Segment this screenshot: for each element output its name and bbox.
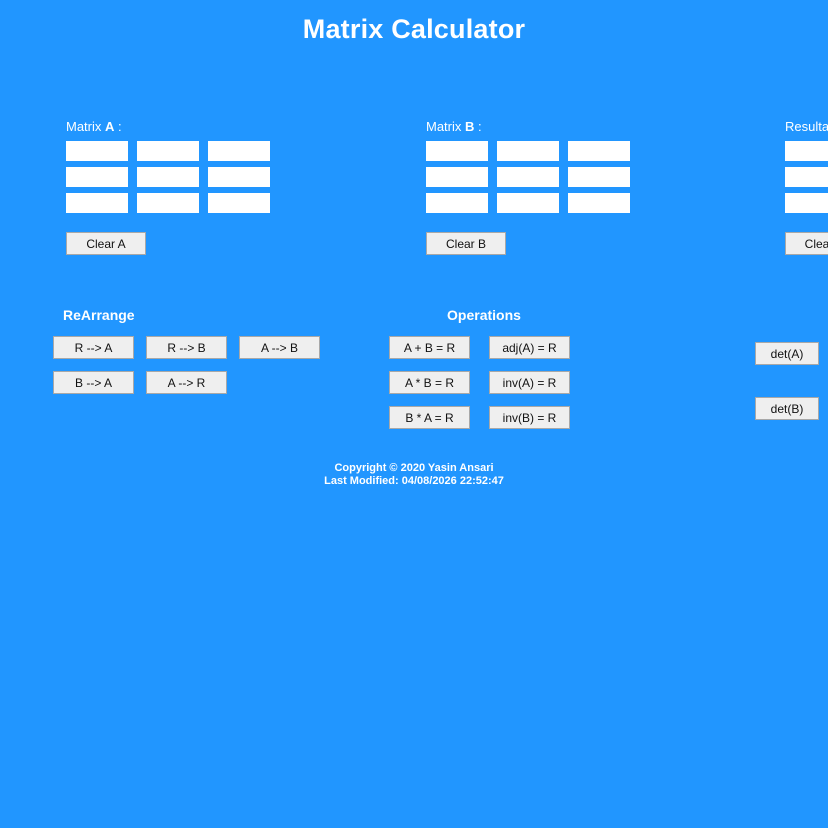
matrix-b-row	[426, 141, 630, 161]
matrix-a-row	[66, 193, 270, 213]
matrix-a-grid	[66, 141, 270, 213]
matrix-r-cell-1-0[interactable]	[785, 167, 828, 187]
matrix-b-label-suffix: :	[474, 119, 481, 134]
rearrange-section: ReArrange R --> A R --> B A --> B B --> …	[53, 307, 320, 406]
determinant-row-2: det(B)	[755, 397, 828, 420]
clear-r-button[interactable]: Clear R	[785, 232, 828, 255]
matrix-a-row	[66, 141, 270, 161]
matrix-a-cell-0-2[interactable]	[208, 141, 270, 161]
matrix-a-row	[66, 167, 270, 187]
matrix-a-cell-0-0[interactable]	[66, 141, 128, 161]
det-b-button[interactable]: det(B)	[755, 397, 819, 420]
rearrange-row-2: B --> A A --> R	[53, 371, 320, 394]
page-title: Matrix Calculator	[0, 14, 828, 45]
matrix-r-label-prefix: Resultant	[785, 119, 828, 134]
op-inv-b-button[interactable]: inv(B) = R	[489, 406, 570, 429]
matrix-b-cell-2-1[interactable]	[497, 193, 559, 213]
operations-heading: Operations	[389, 307, 579, 323]
matrix-a-label: Matrix A :	[66, 118, 270, 136]
clear-b-button[interactable]: Clear B	[426, 232, 506, 255]
matrix-a-cell-2-2[interactable]	[208, 193, 270, 213]
matrix-b-panel: Matrix B : Clear B	[426, 118, 630, 255]
matrix-a-label-letter: A	[105, 119, 114, 134]
matrix-r-cell-0-0[interactable]	[785, 141, 828, 161]
op-a-times-b-button[interactable]: A * B = R	[389, 371, 470, 394]
op-adj-a-button[interactable]: adj(A) = R	[489, 336, 570, 359]
footer-last-modified: Last Modified: 04/08/2026 22:52:47	[0, 475, 828, 488]
op-b-times-a-button[interactable]: B * A = R	[389, 406, 470, 429]
matrix-b-row	[426, 167, 630, 187]
matrix-b-cell-1-1[interactable]	[497, 167, 559, 187]
matrix-r-label: Resultant R :	[785, 118, 828, 136]
rearrange-r-to-b-button[interactable]: R --> B	[146, 336, 227, 359]
matrix-a-cell-2-0[interactable]	[66, 193, 128, 213]
matrix-b-cell-0-2[interactable]	[568, 141, 630, 161]
operations-row-3: B * A = R inv(B) = R	[389, 406, 579, 429]
rearrange-a-to-r-button[interactable]: A --> R	[146, 371, 227, 394]
rearrange-a-to-b-button[interactable]: A --> B	[239, 336, 320, 359]
matrix-r-cell-2-0[interactable]	[785, 193, 828, 213]
matrix-a-label-suffix: :	[114, 119, 121, 134]
matrix-a-cell-0-1[interactable]	[137, 141, 199, 161]
matrix-b-label-letter: B	[465, 119, 474, 134]
matrix-b-cell-2-2[interactable]	[568, 193, 630, 213]
clear-a-button[interactable]: Clear A	[66, 232, 146, 255]
matrix-b-grid	[426, 141, 630, 213]
matrix-b-label-prefix: Matrix	[426, 119, 465, 134]
matrix-b-cell-2-0[interactable]	[426, 193, 488, 213]
matrix-a-cell-1-2[interactable]	[208, 167, 270, 187]
matrix-r-row	[785, 193, 828, 213]
matrix-b-cell-0-1[interactable]	[497, 141, 559, 161]
matrix-a-panel: Matrix A : Clear A	[66, 118, 270, 255]
matrix-b-cell-1-2[interactable]	[568, 167, 630, 187]
determinant-section: det(A) det(B)	[755, 342, 828, 452]
matrix-a-cell-1-1[interactable]	[137, 167, 199, 187]
operations-row-2: A * B = R inv(A) = R	[389, 371, 579, 394]
matrix-b-cell-1-0[interactable]	[426, 167, 488, 187]
matrix-a-cell-2-1[interactable]	[137, 193, 199, 213]
rearrange-r-to-a-button[interactable]: R --> A	[53, 336, 134, 359]
rearrange-row-1: R --> A R --> B A --> B	[53, 336, 320, 359]
matrix-r-panel: Resultant R : Clear R	[785, 118, 828, 255]
matrix-r-row	[785, 167, 828, 187]
matrix-r-row	[785, 141, 828, 161]
rearrange-heading: ReArrange	[63, 307, 320, 323]
operations-section: Operations A + B = R adj(A) = R A * B = …	[389, 307, 579, 441]
rearrange-b-to-a-button[interactable]: B --> A	[53, 371, 134, 394]
op-inv-a-button[interactable]: inv(A) = R	[489, 371, 570, 394]
matrix-a-cell-1-0[interactable]	[66, 167, 128, 187]
footer-copyright: Copyright © 2020 Yasin Ansari	[0, 462, 828, 475]
op-a-plus-b-button[interactable]: A + B = R	[389, 336, 470, 359]
app-window: Matrix Calculator Matrix A : Clear A M	[0, 0, 828, 828]
operations-row-1: A + B = R adj(A) = R	[389, 336, 579, 359]
determinant-row-1: det(A)	[755, 342, 828, 365]
footer: Copyright © 2020 Yasin Ansari Last Modif…	[0, 462, 828, 487]
det-a-button[interactable]: det(A)	[755, 342, 819, 365]
matrix-b-label: Matrix B :	[426, 118, 630, 136]
matrix-b-row	[426, 193, 630, 213]
matrix-a-label-prefix: Matrix	[66, 119, 105, 134]
operations-grid: A + B = R adj(A) = R A * B = R inv(A) = …	[389, 336, 579, 429]
matrix-b-cell-0-0[interactable]	[426, 141, 488, 161]
matrix-r-grid	[785, 141, 828, 213]
